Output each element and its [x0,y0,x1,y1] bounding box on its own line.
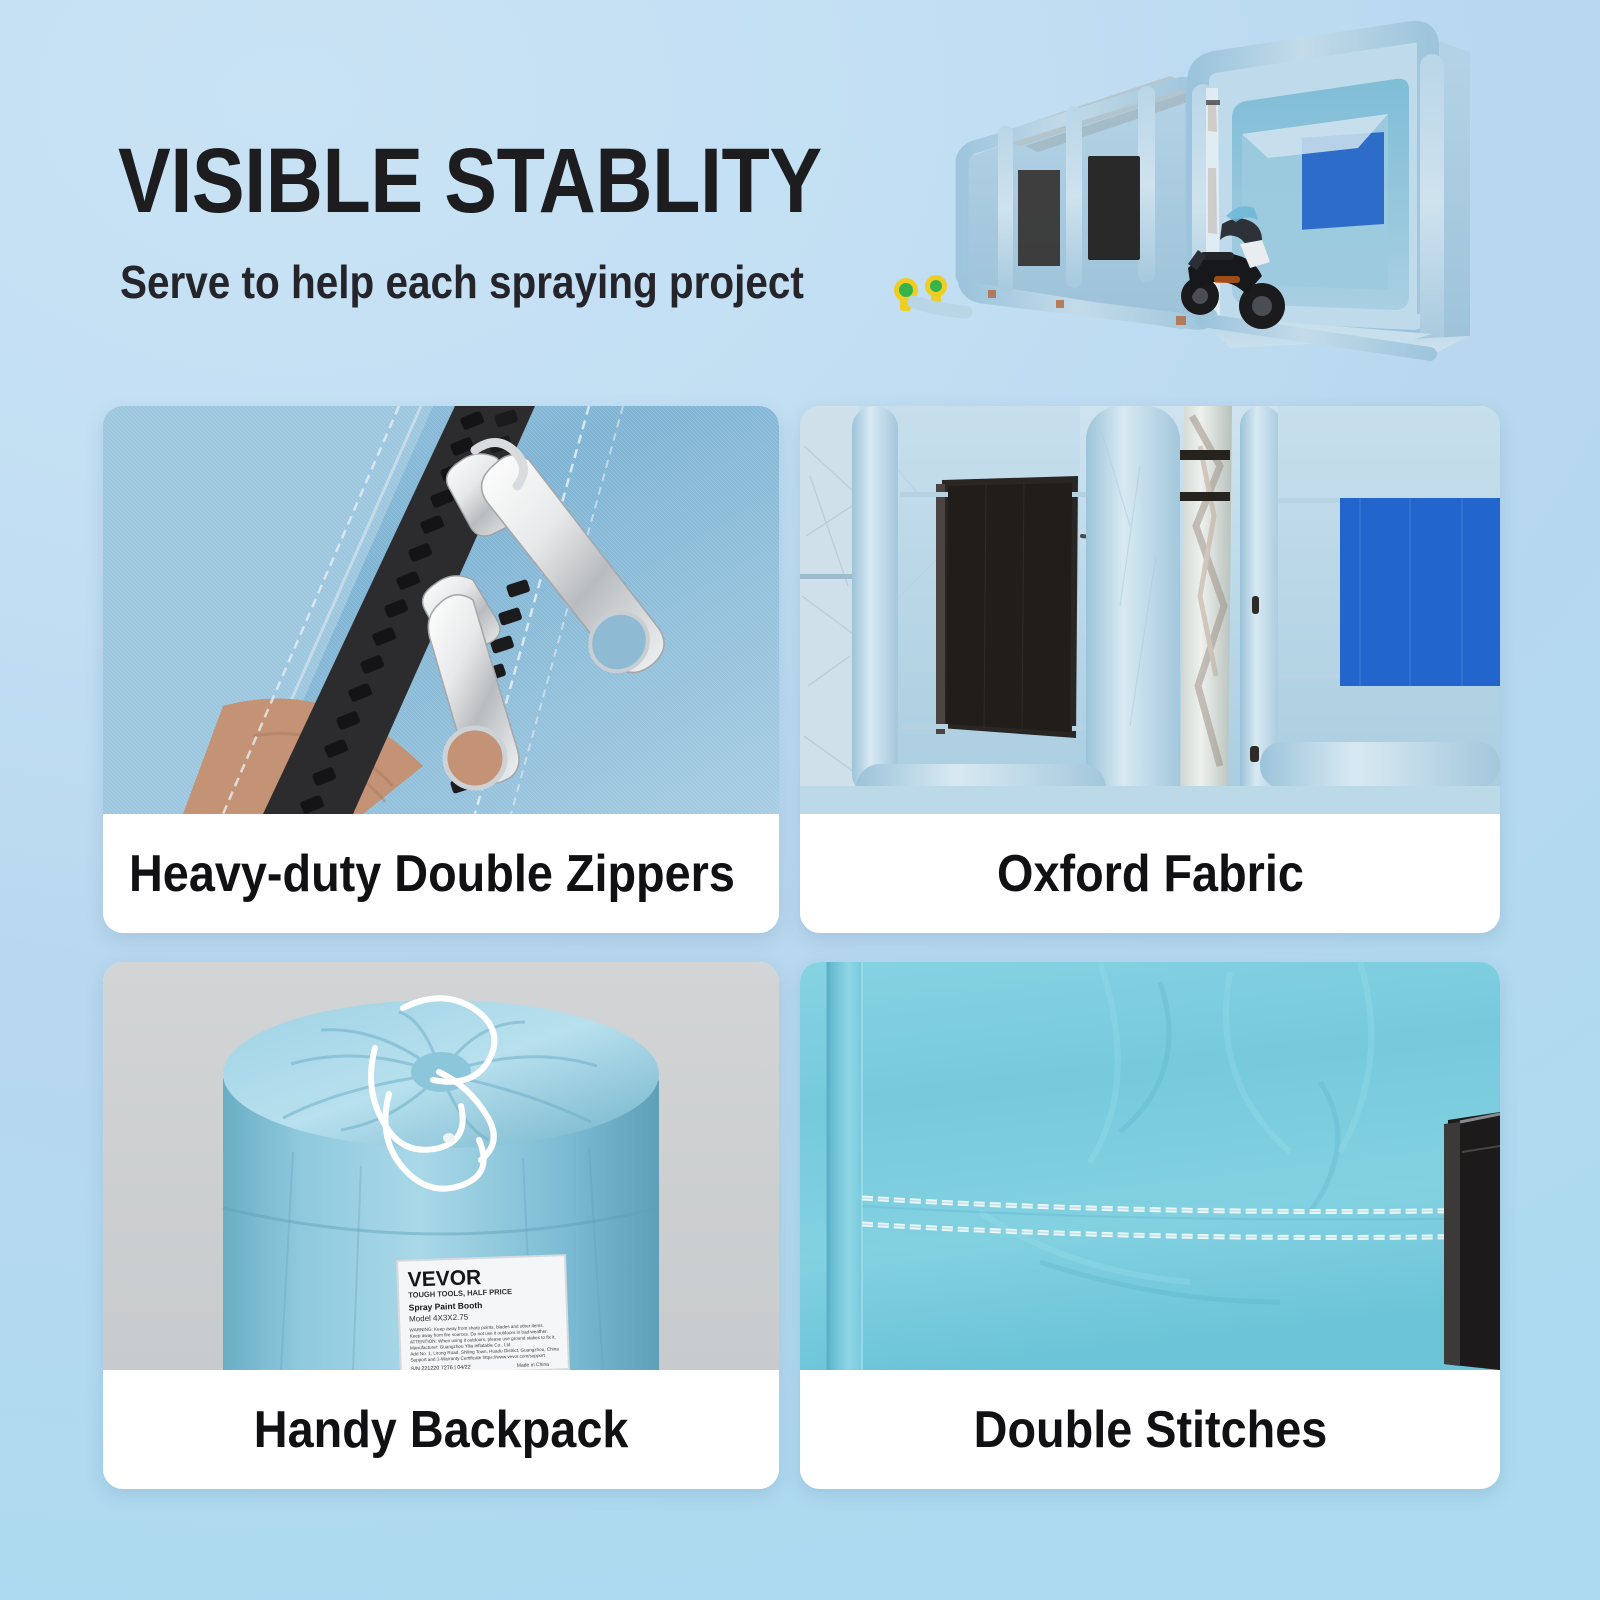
feature-card-double-stitches[interactable]: Double Stitches [800,962,1500,1489]
page-title: VISIBLE STABLITY [118,133,822,229]
card-caption: Double Stitches [800,1370,1500,1489]
storage-bag-photo: VEVOR TOUGH TOOLS, HALF PRICE Spray Pain… [103,962,779,1370]
booth-interior-photo [800,406,1500,814]
card-caption-text: Double Stitches [973,1402,1327,1458]
vevor-product-label: VEVOR TOUGH TOOLS, HALF PRICE Spray Pain… [397,1255,569,1370]
card-caption-text: Oxford Fabric [997,846,1304,902]
card-caption: Heavy-duty Double Zippers [103,814,779,933]
card-caption-text: Heavy-duty Double Zippers [129,846,735,902]
feature-card-handy-backpack[interactable]: VEVOR TOUGH TOOLS, HALF PRICE Spray Pain… [103,962,779,1489]
svg-text:S/N 221220 7276 | 04/22: S/N 221220 7276 | 04/22 [411,1364,471,1370]
double-stitch-closeup-photo [800,962,1500,1370]
hero-product-image [870,18,1590,383]
feature-card-heavy-duty-double-zippers[interactable]: Heavy-duty Double Zippers [103,406,779,933]
card-caption: Handy Backpack [103,1370,779,1489]
page-subtitle: Serve to help each spraying project [120,256,804,308]
svg-text:Made in China: Made in China [517,1362,550,1369]
feature-card-oxford-fabric[interactable]: Oxford Fabric [800,406,1500,933]
zipper-closeup-photo [103,406,779,814]
air-blower-fans [894,275,966,312]
promo-canvas: VISIBLE STABLITY Serve to help each spra… [0,0,1600,1600]
card-caption: Oxford Fabric [800,814,1500,933]
card-caption-text: Handy Backpack [254,1402,629,1458]
